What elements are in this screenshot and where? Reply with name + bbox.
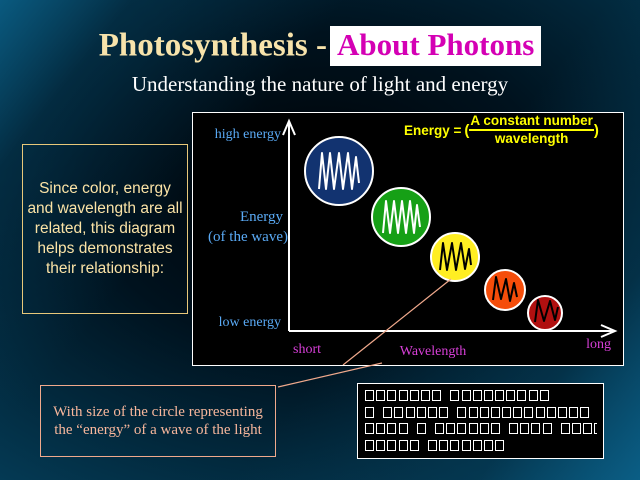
- unrenderable-text-box: [357, 383, 604, 459]
- missing-glyph: [399, 423, 408, 434]
- missing-glyph: [410, 440, 419, 451]
- missing-glyph: [421, 390, 430, 401]
- missing-glyph: [428, 407, 437, 418]
- data-point-yellow: [431, 233, 479, 281]
- missing-glyph: [524, 407, 533, 418]
- missing-glyph: [399, 390, 408, 401]
- missing-glyph: [406, 407, 415, 418]
- missing-glyph: [543, 423, 552, 434]
- callout-text: With size of the circle representing the…: [41, 403, 275, 440]
- missing-glyph: [417, 423, 426, 434]
- slide-subtitle: Understanding the nature of light and en…: [0, 72, 640, 97]
- slide-canvas: Photosynthesis -About Photons Understand…: [0, 0, 640, 480]
- missing-glyph: [417, 407, 426, 418]
- missing-glyph: [399, 440, 408, 451]
- missing-glyph: [580, 407, 589, 418]
- x-tick-label-short: short: [293, 342, 321, 357]
- missing-glyph: [383, 407, 392, 418]
- missing-glyph: [376, 440, 385, 451]
- x-axis-title: Wavelength: [400, 344, 467, 359]
- tofu-line: [365, 421, 597, 438]
- missing-glyph: [365, 440, 374, 451]
- missing-glyph: [439, 440, 448, 451]
- missing-glyph: [484, 390, 493, 401]
- missing-glyph: [495, 440, 504, 451]
- missing-glyph: [491, 407, 500, 418]
- missing-glyph: [376, 390, 385, 401]
- missing-glyph: [558, 407, 567, 418]
- missing-glyph: [387, 390, 396, 401]
- missing-glyph: [484, 440, 493, 451]
- missing-glyph: [376, 423, 385, 434]
- missing-glyph: [473, 390, 482, 401]
- missing-glyph: [594, 423, 597, 434]
- tofu-line: [365, 388, 597, 405]
- missing-glyph: [365, 407, 374, 418]
- tofu-line: [365, 405, 597, 422]
- missing-glyph: [491, 423, 500, 434]
- missing-glyph: [435, 423, 444, 434]
- energy-wavelength-chart: high energy low energy Energy (of the wa…: [192, 112, 624, 366]
- tofu-line: [365, 438, 597, 455]
- missing-glyph: [473, 440, 482, 451]
- missing-glyph: [387, 440, 396, 451]
- y-tick-label-low: low energy: [219, 315, 281, 330]
- missing-glyph: [540, 390, 549, 401]
- missing-glyph: [469, 423, 478, 434]
- missing-glyph: [536, 407, 545, 418]
- missing-glyph: [457, 407, 466, 418]
- missing-glyph: [462, 440, 471, 451]
- x-tick-label-long: long: [586, 337, 611, 352]
- explanation-box: Since color, energy and wavelength are a…: [22, 144, 188, 314]
- missing-glyph: [572, 423, 581, 434]
- missing-glyph: [520, 423, 529, 434]
- explanation-text: Since color, energy and wavelength are a…: [23, 179, 187, 280]
- missing-glyph: [462, 390, 471, 401]
- missing-glyph: [432, 390, 441, 401]
- missing-glyph: [394, 407, 403, 418]
- missing-glyph: [531, 423, 540, 434]
- missing-glyph: [583, 423, 592, 434]
- missing-glyph: [365, 423, 374, 434]
- missing-glyph: [529, 390, 538, 401]
- missing-glyph: [410, 390, 419, 401]
- missing-glyph: [513, 407, 522, 418]
- missing-glyph: [365, 390, 374, 401]
- missing-glyph: [502, 407, 511, 418]
- missing-glyph: [457, 423, 466, 434]
- missing-glyph: [517, 390, 526, 401]
- missing-glyph: [446, 423, 455, 434]
- energy-formula: Energy = ( A constant number wavelength …: [404, 114, 599, 146]
- page-title-main: Photosynthesis -: [99, 28, 327, 64]
- formula-denominator: wavelength: [495, 131, 569, 146]
- missing-glyph: [506, 390, 515, 401]
- data-point-blue: [305, 137, 373, 205]
- missing-glyph: [450, 390, 459, 401]
- formula-left-side: Energy =: [404, 123, 464, 138]
- missing-glyph: [495, 390, 504, 401]
- missing-glyph: [469, 407, 478, 418]
- callout-box: With size of the circle representing the…: [40, 385, 276, 457]
- missing-glyph: [569, 407, 578, 418]
- data-point-red: [528, 296, 562, 330]
- missing-glyph: [480, 423, 489, 434]
- y-axis-title-line2: (of the wave): [208, 229, 288, 245]
- missing-glyph: [547, 407, 556, 418]
- missing-glyph: [509, 423, 518, 434]
- missing-glyph: [439, 407, 448, 418]
- missing-glyph: [480, 407, 489, 418]
- missing-glyph: [561, 423, 570, 434]
- missing-glyph: [428, 440, 437, 451]
- formula-numerator: A constant number: [469, 114, 594, 131]
- page-title-highlight: About Photons: [330, 26, 541, 66]
- y-tick-label-high: high energy: [215, 127, 281, 142]
- missing-glyph: [387, 423, 396, 434]
- formula-paren-close: ): [594, 122, 599, 139]
- slide-title: Photosynthesis -About Photons: [0, 26, 640, 66]
- data-point-green: [372, 188, 430, 246]
- data-point-orange: [485, 270, 525, 310]
- formula-fraction: A constant number wavelength: [469, 114, 594, 146]
- missing-glyph: [450, 440, 459, 451]
- chart-plot-area: high energy low energy Energy (of the wa…: [193, 113, 623, 365]
- y-axis-title-line1: Energy: [240, 209, 284, 225]
